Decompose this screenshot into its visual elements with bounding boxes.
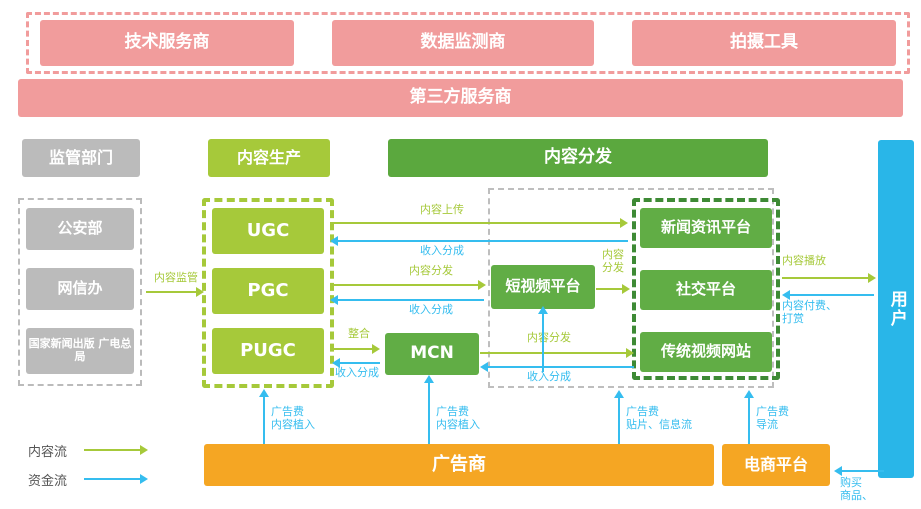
legend-item-1-label: 资金流 [28, 470, 67, 489]
production-item-ugc-label: UGC [247, 221, 290, 242]
third-party-item-1[interactable]: 数据监测商 [332, 20, 594, 66]
flow-label-content-distribution-sv: 内容 分发 [596, 248, 630, 274]
regulator-item-1[interactable]: 网信办 [26, 268, 134, 310]
flow-arrow-ad-fee-mcn [428, 381, 430, 444]
flow-label-revenue-mcn: 收入分成 [494, 370, 604, 383]
flow-label-supervision: 内容监管 [145, 271, 207, 284]
diagram-canvas: 技术服务商 数据监测商 拍摄工具 第三方服务商 监管部门 公安部 网信办 国家新… [0, 0, 921, 509]
flow-arrowhead-content-distribution-mcn [626, 348, 634, 358]
flow-arrowhead-content-upload [620, 218, 628, 228]
third-party-banner-label: 第三方服务商 [410, 88, 512, 108]
flow-label-ad-fee-production: 广告费 内容植入 [271, 405, 361, 431]
advertiser-node[interactable]: 广告商 [204, 444, 714, 486]
flow-arrow-sv-vertical-money [542, 312, 544, 372]
flow-arrow-content-play [782, 277, 870, 279]
third-party-item-2-label: 拍摄工具 [730, 33, 798, 53]
third-party-item-1-label: 数据监测商 [421, 33, 506, 53]
legend-item-0-label: 内容流 [28, 441, 67, 460]
third-party-item-2[interactable]: 拍摄工具 [632, 20, 896, 66]
platform-item-news-label: 新闻资讯平台 [661, 219, 751, 236]
production-item-pugc-label: PUGC [240, 341, 296, 362]
flow-arrowhead-ad-fee-mcn [424, 375, 434, 383]
flow-label-content-upload: 内容上传 [382, 203, 502, 216]
flow-label-revenue-pugc: 收入分成 [326, 366, 388, 379]
platform-item-social[interactable]: 社交平台 [640, 270, 772, 310]
flow-label-content-distribution-pgc: 内容分发 [376, 264, 486, 277]
flow-label-integration: 整合 [336, 327, 382, 340]
flow-label-ad-fee-mcn: 广告费 内容植入 [436, 405, 526, 431]
production-item-pugc[interactable]: PUGC [212, 328, 324, 374]
flow-arrowhead-content-play [868, 273, 876, 283]
production-item-ugc[interactable]: UGC [212, 208, 324, 254]
flow-arrowhead-ad-fee-production [259, 389, 269, 397]
flow-arrowhead-ad-fee-platform [614, 390, 624, 398]
flow-label-ad-fee-platform: 广告费 贴片、信息流 [626, 405, 736, 431]
flow-arrow-revenue-ugc [338, 240, 628, 242]
regulator-item-2-label: 国家新闻出版 广电总局 [26, 338, 134, 363]
advertiser-node-label: 广告商 [432, 455, 486, 476]
mcn-node-label: MCN [410, 344, 454, 364]
platform-item-social-label: 社交平台 [676, 281, 736, 298]
flow-label-content-play: 内容播放 [782, 254, 868, 267]
flow-arrowhead-revenue-pgc [330, 295, 338, 305]
flow-arrow-ad-fee-platform [618, 396, 620, 444]
legend-item-1-arrow [84, 478, 142, 480]
flow-arrow-revenue-pgc [338, 299, 484, 301]
legend-item-0-arrow [84, 449, 142, 451]
flow-label-ad-fee-ecommerce: 广告费 导流 [756, 405, 836, 431]
regulator-item-2[interactable]: 国家新闻出版 广电总局 [26, 328, 134, 374]
platform-item-traditional[interactable]: 传统视频网站 [640, 332, 772, 372]
ecommerce-node[interactable]: 电商平台 [722, 444, 830, 486]
short-video-platform[interactable]: 短视频平台 [491, 265, 595, 309]
regulator-item-0-label: 公安部 [57, 220, 102, 237]
flow-arrow-ad-fee-ecommerce [748, 396, 750, 444]
third-party-banner[interactable]: 第三方服务商 [18, 79, 903, 117]
flow-label-purchase: 购买 商品、 [840, 476, 896, 502]
flow-arrow-integration [332, 348, 374, 350]
flow-arrowhead-integration [372, 344, 380, 354]
production-header[interactable]: 内容生产 [208, 139, 330, 177]
flow-arrowhead-purchase [834, 466, 842, 476]
third-party-item-0-label: 技术服务商 [125, 33, 210, 53]
flow-arrow-supervision [146, 291, 198, 293]
user-node-label: 用户 [886, 290, 906, 328]
flow-arrow-content-payment [790, 294, 874, 296]
flow-label-content-payment: 内容付费、 打赏 [782, 299, 874, 325]
flow-label-revenue-ugc: 收入分成 [382, 244, 502, 257]
flow-label-revenue-pgc: 收入分成 [376, 303, 486, 316]
legend-item-1-arrowhead [140, 474, 148, 484]
regulator-item-0[interactable]: 公安部 [26, 208, 134, 250]
flow-arrowhead-revenue-mcn [480, 362, 488, 372]
production-item-pgc[interactable]: PGC [212, 268, 324, 314]
flow-arrow-purchase [842, 470, 884, 472]
flow-arrowhead-content-distribution-sv [622, 284, 630, 294]
flow-arrowhead-ad-fee-ecommerce [744, 390, 754, 398]
short-video-platform-label: 短视频平台 [505, 278, 580, 295]
flow-arrow-content-distribution-mcn [480, 352, 628, 354]
distribution-header-label: 内容分发 [544, 148, 612, 168]
platform-item-traditional-label: 传统视频网站 [661, 343, 751, 360]
flow-arrowhead-content-distribution-pgc [478, 280, 486, 290]
mcn-node[interactable]: MCN [385, 333, 479, 375]
ecommerce-node-label: 电商平台 [744, 456, 808, 474]
flow-arrow-revenue-pugc [340, 362, 380, 364]
regulator-item-1-label: 网信办 [57, 280, 102, 297]
production-header-label: 内容生产 [237, 149, 301, 167]
flow-arrow-revenue-mcn [488, 366, 634, 368]
flow-arrow-content-distribution-sv [596, 288, 624, 290]
production-item-pgc-label: PGC [247, 281, 288, 302]
regulators-header[interactable]: 监管部门 [22, 139, 140, 177]
flow-arrowhead-sv-vertical-money [538, 306, 548, 314]
user-node[interactable]: 用户 [878, 140, 914, 478]
flow-arrow-content-upload [330, 222, 622, 224]
legend-item-0-arrowhead [140, 445, 148, 455]
flow-label-content-distribution-mcn: 内容分发 [494, 331, 604, 344]
flow-arrowhead-revenue-ugc [330, 236, 338, 246]
third-party-item-0[interactable]: 技术服务商 [40, 20, 294, 66]
flow-arrow-ad-fee-production [263, 395, 265, 444]
distribution-header[interactable]: 内容分发 [388, 139, 768, 177]
flow-arrow-content-distribution-pgc [330, 284, 480, 286]
regulators-header-label: 监管部门 [49, 149, 113, 167]
platform-item-news[interactable]: 新闻资讯平台 [640, 208, 772, 248]
